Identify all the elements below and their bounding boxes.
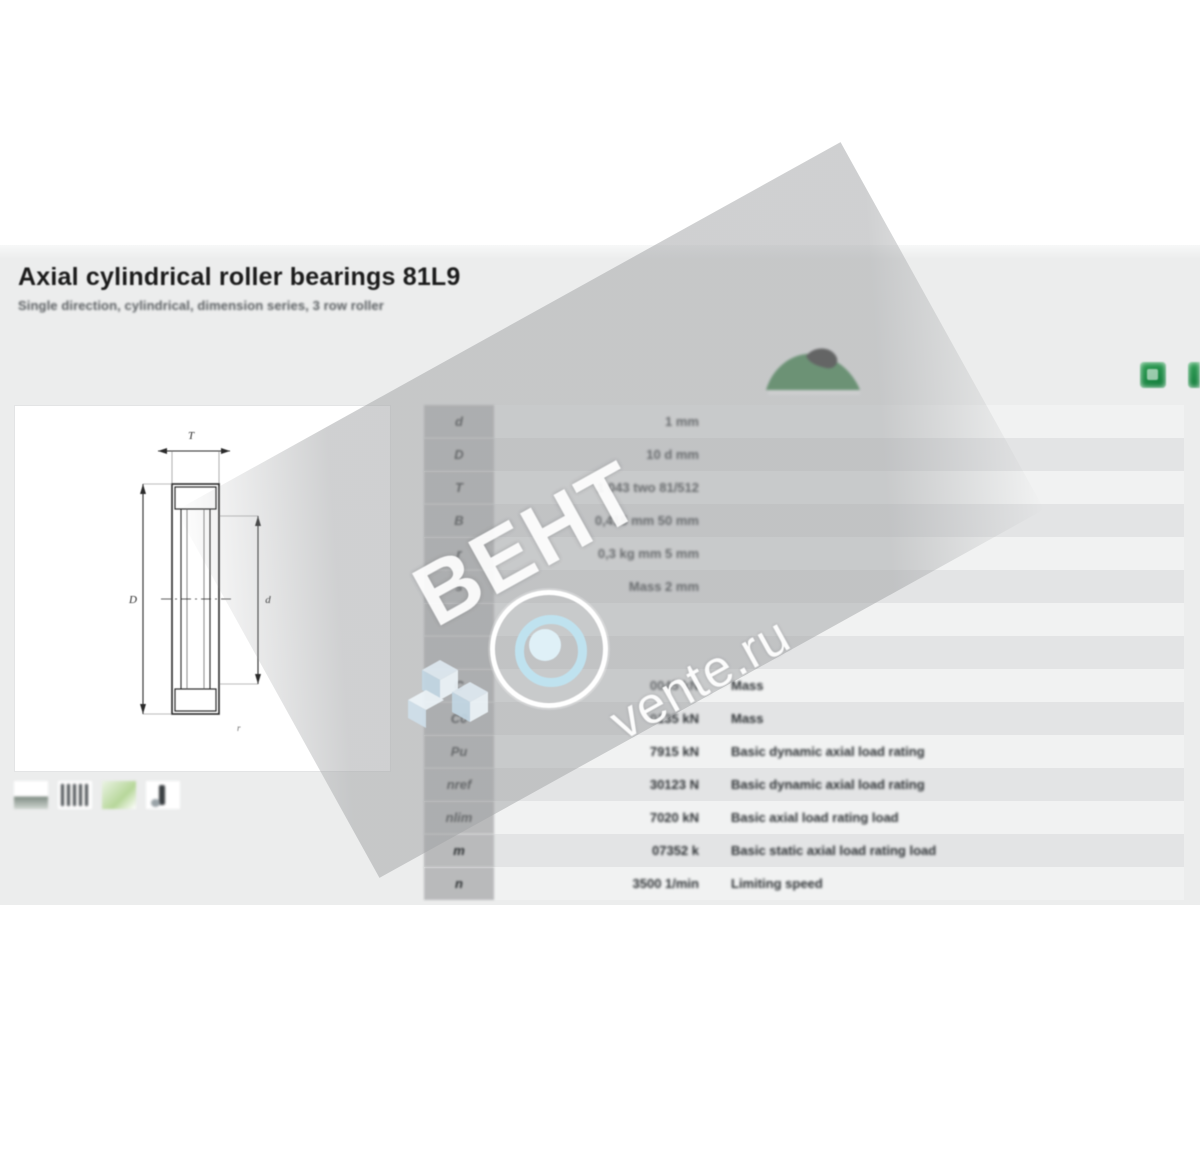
- row-value: 1 mm: [494, 414, 713, 429]
- svg-text:d: d: [265, 594, 271, 606]
- svg-text:r: r: [237, 723, 241, 733]
- page-header: Axial cylindrical roller bearings 81L9 S…: [18, 262, 1018, 313]
- thumbnail-photo-4[interactable]: [146, 781, 180, 809]
- drawing-card[interactable]: T D: [14, 405, 391, 772]
- svg-text:T: T: [188, 430, 195, 442]
- bearing-cross-section-drawing: T D: [15, 406, 390, 771]
- row-description: Basic dynamic axial load rating: [713, 777, 1184, 792]
- row-description: Basic axial load rating load: [713, 810, 1184, 825]
- table-row: nref 30123 N Basic dynamic axial load ra…: [424, 768, 1184, 801]
- table-row: D 10 d mm: [424, 438, 1184, 471]
- row-value: 7020 kN: [494, 810, 713, 825]
- row-symbol: n: [424, 867, 494, 900]
- page-subtitle: Single direction, cylindrical, dimension…: [18, 298, 1018, 313]
- compare-button[interactable]: [1188, 362, 1200, 388]
- table-row: d 1 mm: [424, 405, 1184, 438]
- page-title: Axial cylindrical roller bearings 81L9: [18, 262, 1018, 292]
- row-description: Basic dynamic axial load rating: [713, 744, 1184, 759]
- row-symbol: d: [424, 405, 494, 438]
- table-row: n 3500 1/min Limiting speed: [424, 867, 1184, 900]
- row-symbol: T: [424, 471, 494, 504]
- row-symbol: nref: [424, 768, 494, 801]
- row-value: 07352 k: [494, 843, 713, 858]
- table-row: m 07352 k Basic static axial load rating…: [424, 834, 1184, 867]
- row-value: 30123 N: [494, 777, 713, 792]
- row-symbol: nlim: [424, 801, 494, 834]
- row-description: Basic static axial load rating load: [713, 843, 1184, 858]
- row-symbol: Pu: [424, 735, 494, 768]
- thumbnail-photo-1[interactable]: [14, 781, 48, 809]
- svg-text:D: D: [128, 594, 137, 606]
- table-row: nlim 7020 kN Basic axial load rating loa…: [424, 801, 1184, 834]
- row-value: 7915 kN: [494, 744, 713, 759]
- row-description: Mass: [713, 678, 1184, 693]
- green-company-logo: [748, 344, 878, 402]
- thumbnail-strip: [14, 778, 214, 812]
- action-button-group: [1140, 362, 1200, 388]
- catalog-page: Axial cylindrical roller bearings 81L9 S…: [0, 0, 1200, 1165]
- row-symbol: m: [424, 834, 494, 867]
- row-description: Limiting speed: [713, 876, 1184, 891]
- table-row: Pu 7915 kN Basic dynamic axial load rati…: [424, 735, 1184, 768]
- row-symbol: D: [424, 438, 494, 471]
- add-to-cart-button[interactable]: [1140, 362, 1166, 388]
- row-description: Mass: [713, 711, 1184, 726]
- row-value: 3500 1/min: [494, 876, 713, 891]
- thumbnail-drawing-2[interactable]: [58, 781, 92, 809]
- thumbnail-photo-3[interactable]: [102, 781, 136, 809]
